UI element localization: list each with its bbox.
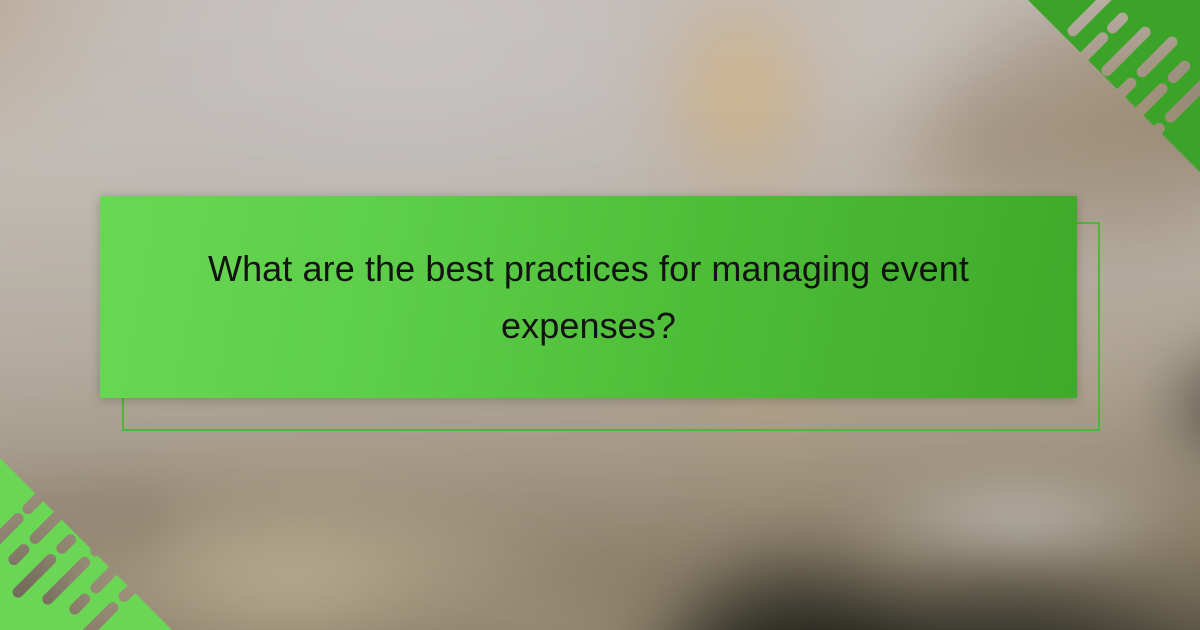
question-text: What are the best practices for managing… <box>160 240 1017 354</box>
question-card: What are the best practices for managing… <box>100 196 1077 398</box>
social-card-canvas: What are the best practices for managing… <box>0 0 1200 630</box>
